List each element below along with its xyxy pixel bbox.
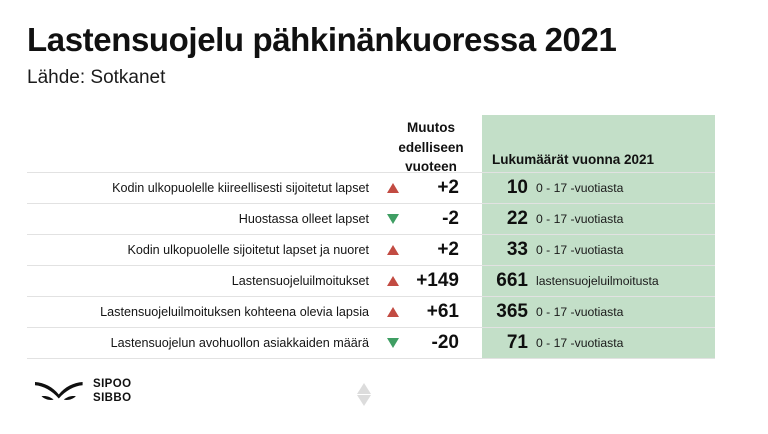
trend-arrow-down-icon <box>381 338 405 348</box>
table-row: Kodin ulkopuolelle kiireellisesti sijoit… <box>27 172 715 204</box>
row-label: Lastensuojeluilmoitukset <box>27 274 381 288</box>
row-change-value: +2 <box>405 239 468 261</box>
marker-arrow-down <box>357 395 371 406</box>
page-title: Lastensuojelu pähkinänkuoressa 2021 <box>27 22 741 58</box>
row-change-value: +2 <box>405 177 468 199</box>
row-label: Lastensuojeluilmoituksen kohteena olevia… <box>27 305 381 319</box>
row-count-value: 10 <box>468 177 528 199</box>
row-count-value: 365 <box>468 301 528 323</box>
row-label: Kodin ulkopuolelle kiireellisesti sijoit… <box>27 181 381 195</box>
table-row: Lastensuojeluilmoituksen kohteena olevia… <box>27 297 715 328</box>
row-count-value: 661 <box>468 270 528 292</box>
column-header-change-line1: Muutos <box>388 118 474 138</box>
sipoo-logo-line2: SIBBO <box>93 391 131 405</box>
table-row: Kodin ulkopuolelle sijoitetut lapset ja … <box>27 235 715 266</box>
row-change-value: +149 <box>405 270 468 292</box>
row-count-value: 22 <box>468 208 528 230</box>
table-row: Lastensuojeluilmoitukset +149 661 lasten… <box>27 266 715 297</box>
table-row: Lastensuojelun avohuollon asiakkaiden mä… <box>27 328 715 359</box>
statistics-table: Kodin ulkopuolelle kiireellisesti sijoit… <box>27 172 715 359</box>
row-unit-label: 0 - 17 -vuotiasta <box>528 336 715 350</box>
row-label: Kodin ulkopuolelle sijoitetut lapset ja … <box>27 243 381 257</box>
sipoo-logo-text: SIPOO SIBBO <box>93 377 131 405</box>
row-change-value: -2 <box>405 208 468 230</box>
sipoo-wing-icon <box>34 377 84 405</box>
row-count-value: 71 <box>468 332 528 354</box>
row-unit-label: 0 - 17 -vuotiasta <box>528 243 715 257</box>
trend-arrow-down-icon <box>381 214 405 224</box>
row-unit-label: 0 - 17 -vuotiasta <box>528 212 715 226</box>
trend-arrow-up-icon <box>381 245 405 255</box>
table-row: Huostassa olleet lapset -2 22 0 - 17 -vu… <box>27 204 715 235</box>
trend-arrow-up-icon <box>381 183 405 193</box>
trend-arrow-up-icon <box>381 307 405 317</box>
column-header-change-line2: edelliseen <box>388 138 474 158</box>
trend-arrow-up-icon <box>381 276 405 286</box>
row-count-value: 33 <box>468 239 528 261</box>
row-change-value: -20 <box>405 332 468 354</box>
sipoo-logo: SIPOO SIBBO <box>34 377 131 405</box>
row-label: Huostassa olleet lapset <box>27 212 381 226</box>
column-header-change: Muutos edelliseen vuoteen <box>388 118 474 177</box>
row-unit-label: lastensuojeluilmoitusta <box>528 274 715 288</box>
page-header: Lastensuojelu pähkinänkuoressa 2021 Lähd… <box>27 22 741 89</box>
row-change-value: +61 <box>405 301 468 323</box>
row-label: Lastensuojelun avohuollon asiakkaiden mä… <box>27 336 381 350</box>
up-down-arrow-icon <box>355 381 373 407</box>
sipoo-logo-line1: SIPOO <box>93 377 131 391</box>
row-unit-label: 0 - 17 -vuotiasta <box>528 181 715 195</box>
row-unit-label: 0 - 17 -vuotiasta <box>528 305 715 319</box>
column-header-counts: Lukumäärät vuonna 2021 <box>492 152 712 167</box>
page-subtitle-source: Lähde: Sotkanet <box>27 67 741 89</box>
marker-arrow-up <box>357 383 371 394</box>
